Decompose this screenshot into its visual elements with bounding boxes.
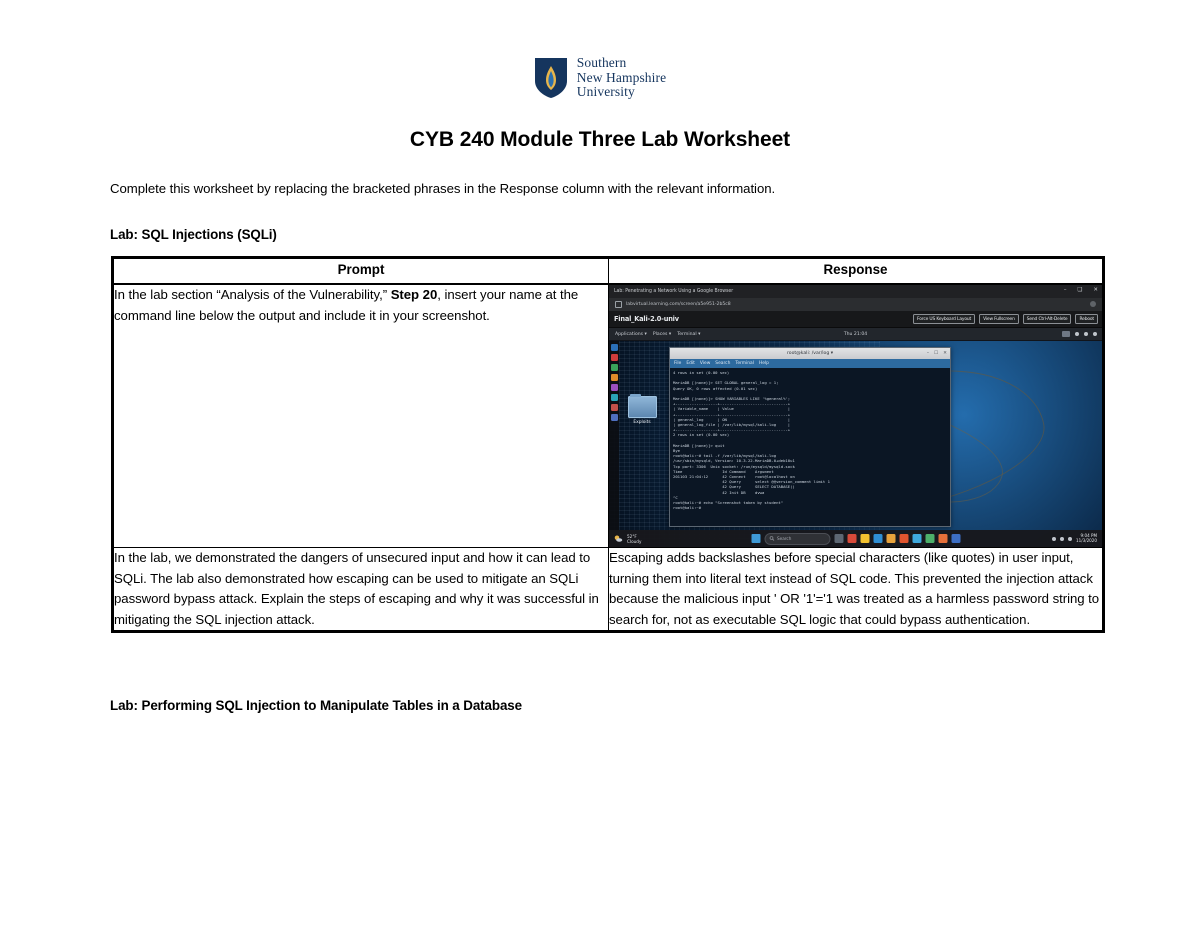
taskbar-app-icon-7[interactable] <box>912 534 921 543</box>
logo-line-3: University <box>577 85 666 100</box>
folder-icon <box>628 396 657 418</box>
desktop-folder-label: Exploits <box>627 420 657 425</box>
taskbar-app-icon-10[interactable] <box>951 534 960 543</box>
view-fullscreen-button[interactable]: View Fullscreen <box>979 314 1019 324</box>
taskbar-app-icon-5[interactable] <box>886 534 895 543</box>
shield-icon <box>534 57 568 99</box>
prompt-1-step-label: Step 20 <box>391 287 438 302</box>
menu-terminal[interactable]: Terminal <box>735 361 754 366</box>
url-text: labvirtual.learning.com/screen/a5e951-2b… <box>626 302 731 307</box>
table-row: In the lab, we demonstrated the dangers … <box>113 548 1104 632</box>
prompt-1-text-pre: In the lab section “Analysis of the Vuln… <box>114 287 391 302</box>
xfce-panel: Applications ▾ Places ▾ Terminal ▾ Thu 2… <box>609 328 1102 341</box>
dock-app-icon-7[interactable] <box>611 404 618 411</box>
taskbar-app-icon-2[interactable] <box>847 534 856 543</box>
windows-taskbar: 52°F Cloudy <box>609 530 1102 547</box>
xfce-clock: Thu 21:04 <box>844 332 867 337</box>
browser-window-controls[interactable]: – ❑ ✕ <box>1064 287 1098 294</box>
terminal-maximize-icon[interactable]: ☐ <box>934 351 938 356</box>
prompt-cell-2: In the lab, we demonstrated the dangers … <box>113 548 609 632</box>
places-menu[interactable]: Places ▾ <box>653 332 671 337</box>
logo-wordmark: Southern New Hampshire University <box>577 56 666 100</box>
page-info-icon <box>615 301 622 308</box>
dock-app-icon-1[interactable] <box>611 344 618 351</box>
taskbar-system-tray: 9:04 PM 11/3/2020 <box>1052 534 1097 543</box>
menu-file[interactable]: File <box>674 361 681 366</box>
tray-network-icon[interactable] <box>1052 537 1056 541</box>
profile-avatar-icon[interactable] <box>1090 301 1096 307</box>
dock-app-icon-3[interactable] <box>611 364 618 371</box>
tray-volume-icon[interactable] <box>1060 537 1064 541</box>
table-header-row: Prompt Response <box>113 258 1104 285</box>
dock-app-icon-4[interactable] <box>611 374 618 381</box>
taskbar-app-icon-3[interactable] <box>860 534 869 543</box>
taskbar-app-icon-9[interactable] <box>938 534 947 543</box>
volume-icon[interactable] <box>1084 332 1088 336</box>
logo-line-2: New Hampshire <box>577 71 666 86</box>
applications-menu[interactable]: Applications ▾ <box>615 332 647 337</box>
menu-help[interactable]: Help <box>759 361 769 366</box>
clock-date: 11/3/2020 <box>1076 538 1097 543</box>
send-ctrl-alt-delete-button[interactable]: Send Ctrl-Alt-Delete <box>1023 314 1072 324</box>
weather-desc: Cloudy <box>627 539 641 544</box>
vm-name-label: Final_Kali-2.0-univ <box>614 315 679 323</box>
terminal-menu[interactable]: Terminal ▾ <box>677 332 700 337</box>
menu-view[interactable]: View <box>700 361 710 366</box>
snhu-logo: Southern New Hampshire University <box>0 56 1200 100</box>
taskbar-search-placeholder: Search <box>777 536 791 541</box>
start-button-icon[interactable] <box>751 534 760 543</box>
response-cell-2[interactable]: Escaping adds backslashes before special… <box>609 548 1104 632</box>
taskbar-center-group: Search <box>751 533 960 545</box>
browser-tab-title: Lab: Penetrating a Network Using a Googl… <box>614 289 733 294</box>
dock-app-icon-5[interactable] <box>611 384 618 391</box>
close-icon[interactable]: ✕ <box>1093 287 1098 294</box>
section-heading-manipulate: Lab: Performing SQL Injection to Manipul… <box>110 698 522 713</box>
document-page: Southern New Hampshire University CYB 24… <box>0 0 1200 927</box>
maximize-icon[interactable]: ❑ <box>1077 287 1082 294</box>
taskbar-app-icon-8[interactable] <box>925 534 934 543</box>
reboot-button[interactable]: Reboot <box>1075 314 1098 324</box>
workspace-switcher-icon[interactable] <box>1062 331 1070 337</box>
weather-text: 52°F Cloudy <box>627 534 641 544</box>
section-heading-sqli: Lab: SQL Injections (SQLi) <box>110 227 277 242</box>
terminal-window-controls[interactable]: – ☐ ✕ <box>927 351 947 356</box>
taskbar-app-icon-4[interactable] <box>873 534 882 543</box>
kali-desktop: Exploits root@kali: /var/log ▾ – ☐ ✕ <box>609 341 1102 547</box>
desktop-folder[interactable]: Exploits <box>627 396 657 425</box>
minimize-icon[interactable]: – <box>1064 287 1067 294</box>
force-us-keyboard-button[interactable]: Force US Keyboard Layout <box>913 314 975 324</box>
weather-icon <box>614 534 623 543</box>
table-row: In the lab section “Analysis of the Vuln… <box>113 284 1104 548</box>
column-header-prompt: Prompt <box>113 258 609 285</box>
page-title: CYB 240 Module Three Lab Worksheet <box>0 128 1200 152</box>
prompt-cell-1: In the lab section “Analysis of the Vuln… <box>113 284 609 548</box>
intro-instruction: Complete this worksheet by replacing the… <box>110 181 775 196</box>
column-header-response: Response <box>609 258 1104 285</box>
menu-edit[interactable]: Edit <box>686 361 695 366</box>
terminal-close-icon[interactable]: ✕ <box>943 351 947 356</box>
lab-control-bar: Final_Kali-2.0-univ Force US Keyboard La… <box>609 311 1102 328</box>
logo-line-1: Southern <box>577 56 666 71</box>
taskbar-weather-widget[interactable]: 52°F Cloudy <box>614 534 641 544</box>
taskbar-app-icon-1[interactable] <box>834 534 843 543</box>
dock-app-icon-8[interactable] <box>611 414 618 421</box>
terminal-minimize-icon[interactable]: – <box>927 351 929 356</box>
browser-titlebar: Lab: Penetrating a Network Using a Googl… <box>609 285 1102 298</box>
terminal-output[interactable]: 4 rows in set (0.00 sec) MariaDB [(none)… <box>670 368 950 526</box>
tray-battery-icon[interactable] <box>1068 537 1072 541</box>
menu-search[interactable]: Search <box>715 361 730 366</box>
terminal-window[interactable]: root@kali: /var/log ▾ – ☐ ✕ File Edit <box>669 347 951 527</box>
network-icon[interactable] <box>1075 332 1079 336</box>
search-icon <box>769 536 774 541</box>
terminal-titlebar: root@kali: /var/log ▾ – ☐ ✕ <box>670 348 950 359</box>
app-dock <box>609 341 619 547</box>
xfce-system-tray <box>1062 331 1097 337</box>
worksheet-table: Prompt Response In the lab section “Anal… <box>111 256 1105 633</box>
response-cell-1: Lab: Penetrating a Network Using a Googl… <box>609 284 1104 548</box>
browser-url-bar[interactable]: labvirtual.learning.com/screen/a5e951-2b… <box>609 298 1102 311</box>
taskbar-app-icon-6[interactable] <box>899 534 908 543</box>
dock-app-icon-2[interactable] <box>611 354 618 361</box>
terminal-title-text: root@kali: /var/log ▾ <box>787 351 833 356</box>
taskbar-search-box[interactable]: Search <box>764 533 830 545</box>
power-icon[interactable] <box>1093 332 1097 336</box>
taskbar-clock[interactable]: 9:04 PM 11/3/2020 <box>1076 534 1097 543</box>
lab-screenshot-image: Lab: Penetrating a Network Using a Googl… <box>609 285 1102 547</box>
dock-app-icon-6[interactable] <box>611 394 618 401</box>
lab-control-buttons: Force US Keyboard Layout View Fullscreen… <box>913 314 1098 324</box>
terminal-menubar: File Edit View Search Terminal Help <box>670 359 950 368</box>
